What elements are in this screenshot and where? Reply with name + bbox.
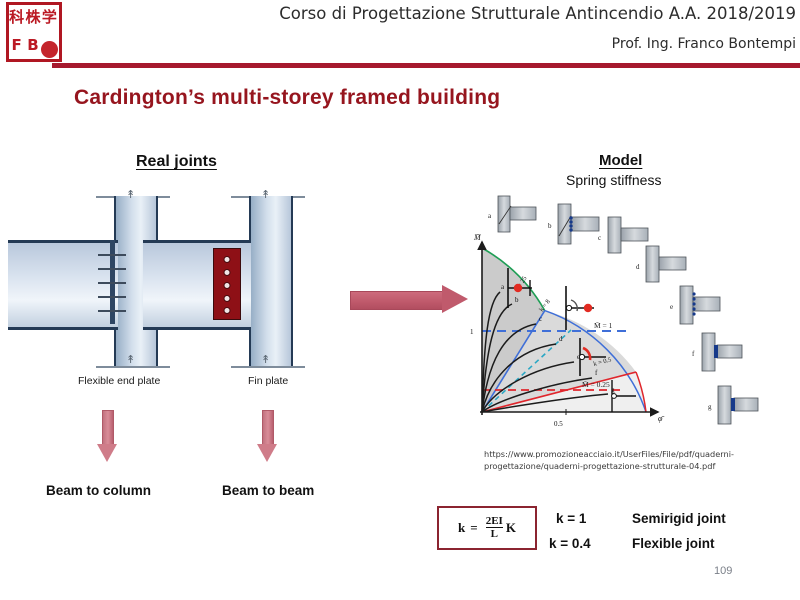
slide: 科 株 学 F B Corso di Progettazione Struttu… [0,0,800,600]
column-section [249,196,293,368]
joint-thumbnail-b: b [548,204,599,244]
formula-equals: = [470,520,477,536]
svg-text:a: a [488,212,492,220]
fin-plate [213,248,241,320]
course-title: Corso di Progettazione Strutturale Antin… [279,4,796,23]
down-arrow-icon [98,410,116,462]
break-symbol-top: ↟ [261,190,270,201]
arrow-shaft [350,291,446,310]
seal-glyph: 学 [42,4,57,31]
break-symbol-bottom: ↟ [261,355,270,366]
bolt-line [98,282,126,284]
svg-text:e: e [670,303,673,311]
joint-thumbnail-c: c [598,217,648,253]
bolt-line [98,268,126,270]
seal-glyph: B [25,32,40,59]
legend-k-value-2: k = 0.4 [549,536,591,551]
header-rule [52,63,800,68]
bolt [224,282,231,289]
model-heading: Model [599,152,642,169]
joint-thumbnail-a: a [488,196,536,232]
annotation-m-equals-1: M̄ = 1 [594,321,613,330]
bolt-line [98,296,126,298]
annotation-k8: k = 8 [538,298,552,313]
curve-label-c: c [539,315,542,323]
formula-factor: K [506,520,516,536]
page-number: 109 [714,565,732,577]
joint-thumbnail-f: f [692,333,742,371]
formula-denominator: L [486,527,503,540]
y-axis-label: M̄ [473,233,482,242]
x-axis-label: φ̄ [658,414,664,423]
y-tick-label-1: 1 [470,328,474,336]
arrow-head [442,285,468,313]
arrow-head [97,444,117,462]
x-tick-label-05: 0.5 [554,420,563,428]
right-arrow-icon [350,285,468,313]
figure-caption-fin-plate: Fin plate [248,375,288,387]
bolt [224,295,231,302]
formula-lhs: k [458,520,465,536]
formula-fraction: 2EI L [486,516,503,541]
arrow-shaft [102,410,114,448]
svg-text:c: c [598,234,601,242]
bolt [224,256,231,263]
page-title: Cardington’s multi-storey framed buildin… [74,86,500,110]
arrow-shaft [262,410,274,448]
professor-name: Prof. Ing. Franco Bontempi [612,36,796,52]
seal-glyph: 科 [9,4,24,31]
down-arrow-icon [258,410,276,462]
column-bottom-cap [231,366,305,368]
svg-text:b: b [548,222,552,230]
label-beam-to-column: Beam to column [46,483,151,498]
column-bottom-cap [96,366,170,368]
joint-thumbnail-e: e [670,286,720,324]
curve-label-b: b [515,296,519,304]
break-symbol-bottom: ↟ [126,355,135,366]
break-symbol-top: ↟ [126,190,135,201]
source-url[interactable]: https://www.promozioneacciaio.it/UserFil… [484,449,774,473]
legend-k-value-1: k = 1 [556,511,586,526]
stiffness-formula-box: k = 2EI L K [437,506,537,550]
formula-numerator: 2EI [486,516,503,528]
real-joints-heading: Real joints [136,153,217,171]
chart-svg: a b c d e f g k = 25 k = 8 k = 0.5 M̄ = … [470,190,790,440]
arrow-head [257,444,277,462]
figure-caption-flexible-end-plate: Flexible end plate [78,375,160,387]
stiffness-formula: k = 2EI L K [439,508,535,548]
bolt [224,307,231,314]
joint-thumbnail-d: d [636,246,686,282]
legend-k-text-2: Flexible joint [632,536,715,551]
fb-seal-logo: 科 株 学 F B [6,2,62,62]
moment-rotation-chart: a b c d e f g k = 25 k = 8 k = 0.5 M̄ = … [470,190,790,440]
annotation-m-equals-025: M̄ = 0.25 [582,380,610,389]
bolt [224,269,231,276]
curve-label-d: d [559,335,563,343]
label-beam-to-beam: Beam to beam [222,483,314,498]
bolt-line [98,310,126,312]
spring-stiffness-subheading: Spring stiffness [566,172,661,188]
slide-header: 科 株 学 F B Corso di Progettazione Struttu… [0,0,800,68]
joint-thumbnail-g: g [708,386,758,424]
legend-k-text-1: Semirigid joint [632,511,726,526]
svg-text:g: g [708,403,712,411]
svg-text:f: f [692,350,695,358]
bolt-line [98,254,126,256]
svg-text:d: d [636,263,640,271]
seal-glyph: 株 [25,4,40,31]
joint-figure-fin-plate: ↟ ↟ [215,192,355,372]
seal-dot [41,41,58,58]
seal-glyph: F [9,32,24,59]
